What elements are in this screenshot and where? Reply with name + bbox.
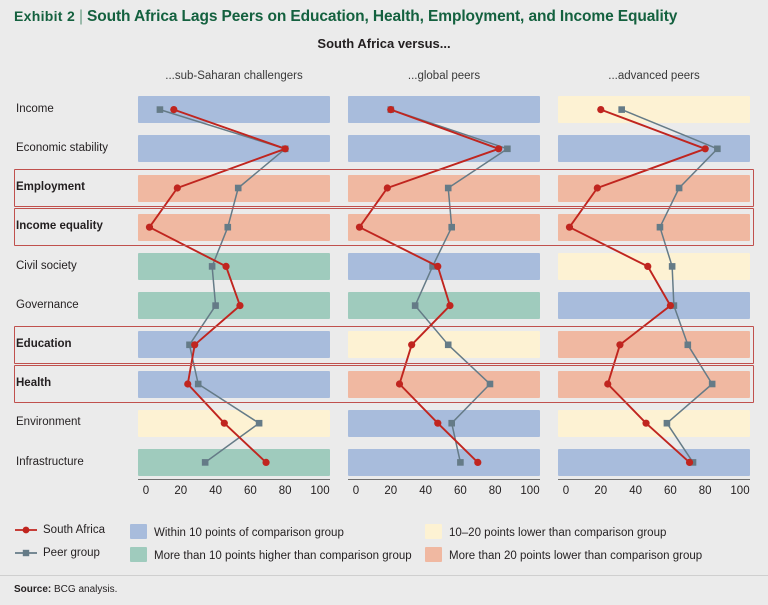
data-point-peer-group [212,302,219,309]
data-point-south-africa [262,459,269,466]
category-label-education: Education [16,336,136,354]
x-axis-line [138,479,330,482]
data-point-south-africa [495,145,502,152]
data-point-peer-group [445,185,452,192]
category-label-income-equality: Income equality [16,218,136,236]
x-axis-tick-100: 100 [520,485,539,497]
data-point-south-africa [686,459,693,466]
x-axis-tick-60: 60 [664,485,677,497]
x-axis-tick-40: 40 [419,485,432,497]
data-point-peer-group [448,420,455,427]
series-line-south-africa [569,110,705,463]
data-point-south-africa [184,380,191,387]
legend-band-lower20: More than 20 points lower than compariso… [425,547,702,562]
x-axis-tick-100: 100 [310,485,329,497]
x-axis-labels: 020406080100 [138,485,330,503]
x-axis-tick-60: 60 [454,485,467,497]
data-point-peer-group [709,381,716,388]
title-text: South Africa Lags Peers on Education, He… [87,8,677,25]
title-divider: | [75,8,87,25]
category-label-income: Income [16,101,136,119]
data-point-peer-group [202,459,209,466]
series-layer [348,90,540,482]
data-point-south-africa [642,420,649,427]
x-axis-line [348,479,540,482]
legend-band-label: More than 20 points lower than compariso… [449,550,702,562]
legend-band-higher10: More than 10 points higher than comparis… [130,547,412,562]
legend-series-label: Peer group [43,547,100,559]
x-axis-tick-80: 80 [279,485,292,497]
category-label-governance: Governance [16,297,136,315]
data-point-south-africa [702,145,709,152]
data-point-south-africa [597,106,604,113]
category-label-health: Health [16,375,136,393]
data-point-peer-group [448,224,455,231]
legend-swatch-icon [130,547,147,562]
x-axis-tick-0: 0 [353,485,359,497]
data-point-peer-group [256,420,263,427]
data-point-peer-group [664,420,671,427]
data-point-peer-group [209,263,216,270]
series-line-south-africa [149,110,285,463]
panel-header-1: ...sub-Saharan challengers [138,70,330,82]
x-axis-tick-0: 0 [563,485,569,497]
data-point-south-africa [174,184,181,191]
legend-series-label: South Africa [43,524,105,536]
data-point-peer-group [618,106,625,113]
panel-header-3: ...advanced peers [558,70,750,82]
panel-header-2: ...global peers [348,70,540,82]
page-title: Exhibit 2|South Africa Lags Peers on Edu… [14,8,758,26]
data-point-south-africa [594,184,601,191]
chart-panel-3: 020406080100 [558,90,750,482]
source-prefix: Source: [14,584,51,595]
category-axis: IncomeEconomic stabilityEmploymentIncome… [0,90,138,482]
line-circle-marker-icon [14,524,38,536]
legend-band-within10: Within 10 points of comparison group [130,524,344,539]
category-label-employment: Employment [16,179,136,197]
chart-panel-2: 020406080100 [348,90,540,482]
series-layer [138,90,330,482]
series-line-peer-group [160,110,285,463]
line-square-marker-icon [14,547,38,559]
data-point-peer-group [676,185,683,192]
data-point-south-africa [616,341,623,348]
data-point-south-africa [282,145,289,152]
x-axis-tick-80: 80 [699,485,712,497]
data-point-peer-group [669,263,676,270]
legend-band-label: Within 10 points of comparison group [154,527,344,539]
data-point-south-africa [566,224,573,231]
legend-series-peer-group: Peer group [14,547,100,559]
data-point-peer-group [195,381,202,388]
data-point-peer-group [457,459,464,466]
x-axis-line [558,479,750,482]
data-point-peer-group [685,342,692,349]
chart-legend: South AfricaPeer groupWithin 10 points o… [0,524,768,572]
source-divider [0,575,768,576]
source-note: Source: BCG analysis. [14,584,117,595]
category-label-environment: Environment [16,414,136,432]
data-point-south-africa [408,341,415,348]
data-point-south-africa [356,224,363,231]
legend-band-label: More than 10 points higher than comparis… [154,550,412,562]
x-axis-tick-20: 20 [384,485,397,497]
data-point-south-africa [146,224,153,231]
x-axis-tick-60: 60 [244,485,257,497]
data-point-peer-group [445,342,452,349]
data-point-south-africa [446,302,453,309]
data-point-peer-group [235,185,242,192]
x-axis-tick-40: 40 [629,485,642,497]
exhibit-label: Exhibit 2 [14,8,75,24]
data-point-peer-group [412,302,419,309]
data-point-south-africa [384,184,391,191]
x-axis-tick-80: 80 [489,485,502,497]
series-line-peer-group [391,110,508,463]
x-axis-tick-20: 20 [594,485,607,497]
data-point-south-africa [221,420,228,427]
data-point-peer-group [714,146,721,153]
legend-swatch-icon [130,524,147,539]
data-point-south-africa [396,380,403,387]
category-label-infrastructure: Infrastructure [16,453,136,471]
x-axis-tick-40: 40 [209,485,222,497]
data-point-peer-group [157,106,164,113]
x-axis-tick-0: 0 [143,485,149,497]
data-point-south-africa [236,302,243,309]
data-point-south-africa [667,302,674,309]
data-point-south-africa [604,380,611,387]
x-axis-tick-20: 20 [174,485,187,497]
x-axis-labels: 020406080100 [558,485,750,503]
data-point-peer-group [657,224,664,231]
data-point-south-africa [644,263,651,270]
category-label-economic-stability: Economic stability [16,140,136,158]
data-point-south-africa [434,263,441,270]
source-text: BCG analysis. [54,584,117,595]
data-point-south-africa [222,263,229,270]
chart-subtitle: South Africa versus... [0,36,768,51]
chart-panel-1: 020406080100 [138,90,330,482]
legend-series-south-africa: South Africa [14,524,105,536]
legend-swatch-icon [425,547,442,562]
series-layer [558,90,750,482]
x-axis-labels: 020406080100 [348,485,540,503]
data-point-south-africa [191,341,198,348]
category-label-civil-society: Civil society [16,257,136,275]
data-point-peer-group [487,381,494,388]
legend-band-label: 10–20 points lower than comparison group [449,527,666,539]
data-point-south-africa [170,106,177,113]
legend-band-lower10-20: 10–20 points lower than comparison group [425,524,666,539]
data-point-south-africa [474,459,481,466]
legend-swatch-icon [425,524,442,539]
data-point-peer-group [504,146,511,153]
data-point-peer-group [224,224,231,231]
data-point-south-africa [387,106,394,113]
x-axis-tick-100: 100 [730,485,749,497]
series-line-south-africa [359,110,498,463]
data-point-south-africa [434,420,441,427]
